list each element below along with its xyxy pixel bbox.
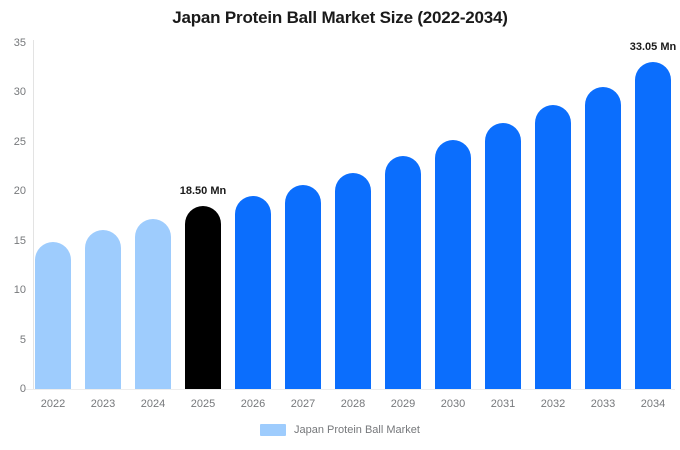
legend-label: Japan Protein Ball Market [294,424,420,436]
bar-2024[interactable] [135,219,171,389]
legend-swatch-icon [260,424,286,436]
bar-2032[interactable] [535,105,571,389]
x-axis-tick-2024: 2024 [135,398,171,410]
x-axis-tick-2034: 2034 [635,398,671,410]
bar-2029[interactable] [385,156,421,389]
bar-2028[interactable] [335,173,371,389]
x-axis-tick-2033: 2033 [585,398,621,410]
bar-2025[interactable] [185,206,221,389]
bar-2030[interactable] [435,140,471,389]
x-axis-tick-2026: 2026 [235,398,271,410]
chart-legend: Japan Protein Ball Market [0,424,680,436]
x-axis-tick-2029: 2029 [385,398,421,410]
data-label-2025: 18.50 Mn [158,185,248,197]
x-axis-tick-2028: 2028 [335,398,371,410]
bars-layer [0,0,680,450]
x-axis-tick-2022: 2022 [35,398,71,410]
chart-container: Japan Protein Ball Market Size (2022-203… [0,0,680,450]
x-axis-tick-2027: 2027 [285,398,321,410]
x-axis-tick-2025: 2025 [185,398,221,410]
bar-2031[interactable] [485,123,521,389]
bar-2026[interactable] [235,196,271,389]
bar-2027[interactable] [285,185,321,389]
bar-2022[interactable] [35,242,71,389]
bar-2023[interactable] [85,230,121,389]
x-axis-tick-2030: 2030 [435,398,471,410]
legend-item[interactable]: Japan Protein Ball Market [260,424,420,436]
bar-2033[interactable] [585,87,621,390]
x-axis-tick-2031: 2031 [485,398,521,410]
x-axis-tick-2023: 2023 [85,398,121,410]
data-label-2034: 33.05 Mn [608,41,680,53]
bar-2034[interactable] [635,62,671,389]
x-axis-tick-2032: 2032 [535,398,571,410]
